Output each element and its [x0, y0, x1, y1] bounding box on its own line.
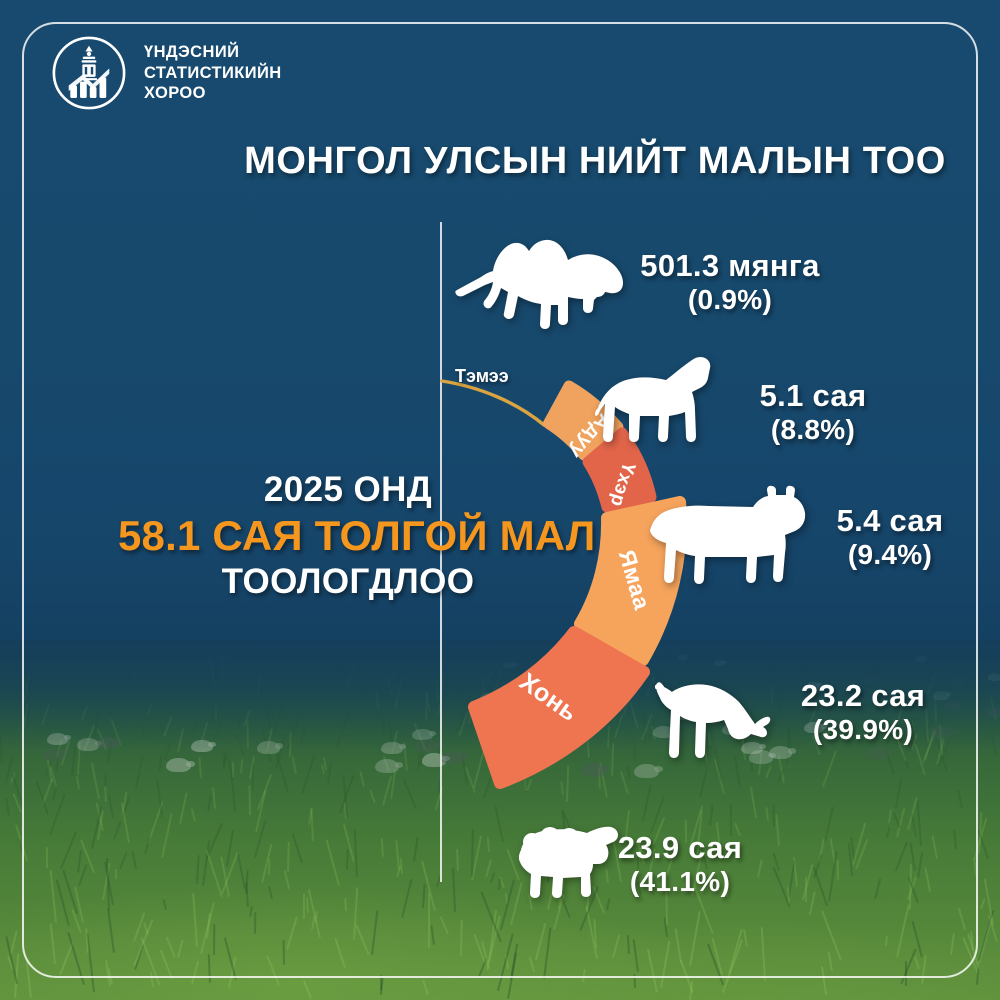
value-label-aduu: 5.1 сая (8.8%)	[718, 378, 908, 446]
infographic-canvas: ҮНДЭСНИЙ СТАТИСТИКИЙН ХОРОО МОНГОЛ УЛСЫН…	[0, 0, 1000, 1000]
value-percent-ukher: (9.4%)	[795, 539, 985, 571]
value-percent-aduu: (8.8%)	[718, 414, 908, 446]
page-title: МОНГОЛ УЛСЫН НИЙТ МАЛЫН ТОО	[0, 140, 1000, 183]
brand-logo-text: ҮНДЭСНИЙ СТАТИСТИКИЙН ХОРОО	[144, 42, 282, 104]
summary-total: 58.1 САЯ ТОЛГОЙ МАЛ	[118, 512, 578, 560]
summary-statement: 2025 ОНД 58.1 САЯ ТОЛГОЙ МАЛ ТООЛОГДЛОО	[118, 470, 578, 602]
brand-line-2: СТАТИСТИКИЙН	[144, 63, 282, 84]
arc-segment-temee[interactable]	[442, 381, 544, 425]
summary-verb: ТООЛОГДЛОО	[118, 562, 578, 602]
value-amount-ukher: 5.4 сая	[795, 503, 985, 539]
brand-line-3: ХОРОО	[144, 83, 282, 104]
soyombo-bar-chart-logo-icon	[50, 34, 128, 112]
brand-line-1: ҮНДЭСНИЙ	[144, 42, 282, 63]
summary-year: 2025 ОНД	[118, 470, 578, 510]
camel-icon	[455, 222, 630, 337]
arc-label-temee: Тэмээ	[455, 366, 509, 387]
value-amount-aduu: 5.1 сая	[718, 378, 908, 414]
value-label-khon: 23.9 сая (41.1%)	[580, 830, 780, 898]
value-amount-yamaa: 23.2 сая	[758, 678, 968, 714]
value-percent-khon: (41.1%)	[580, 866, 780, 898]
goat-icon	[655, 672, 773, 760]
value-percent-yamaa: (39.9%)	[758, 714, 968, 746]
brand-logo: ҮНДЭСНИЙ СТАТИСТИКИЙН ХОРОО	[50, 34, 282, 112]
value-label-yamaa: 23.2 сая (39.9%)	[758, 678, 968, 746]
value-label-ukher: 5.4 сая (9.4%)	[795, 503, 985, 571]
value-label-temee: 501.3 мянга (0.9%)	[620, 248, 840, 316]
cow-icon	[645, 483, 810, 585]
value-percent-temee: (0.9%)	[620, 284, 840, 316]
horse-icon	[595, 352, 720, 444]
value-amount-khon: 23.9 сая	[580, 830, 780, 866]
value-amount-temee: 501.3 мянга	[620, 248, 840, 284]
